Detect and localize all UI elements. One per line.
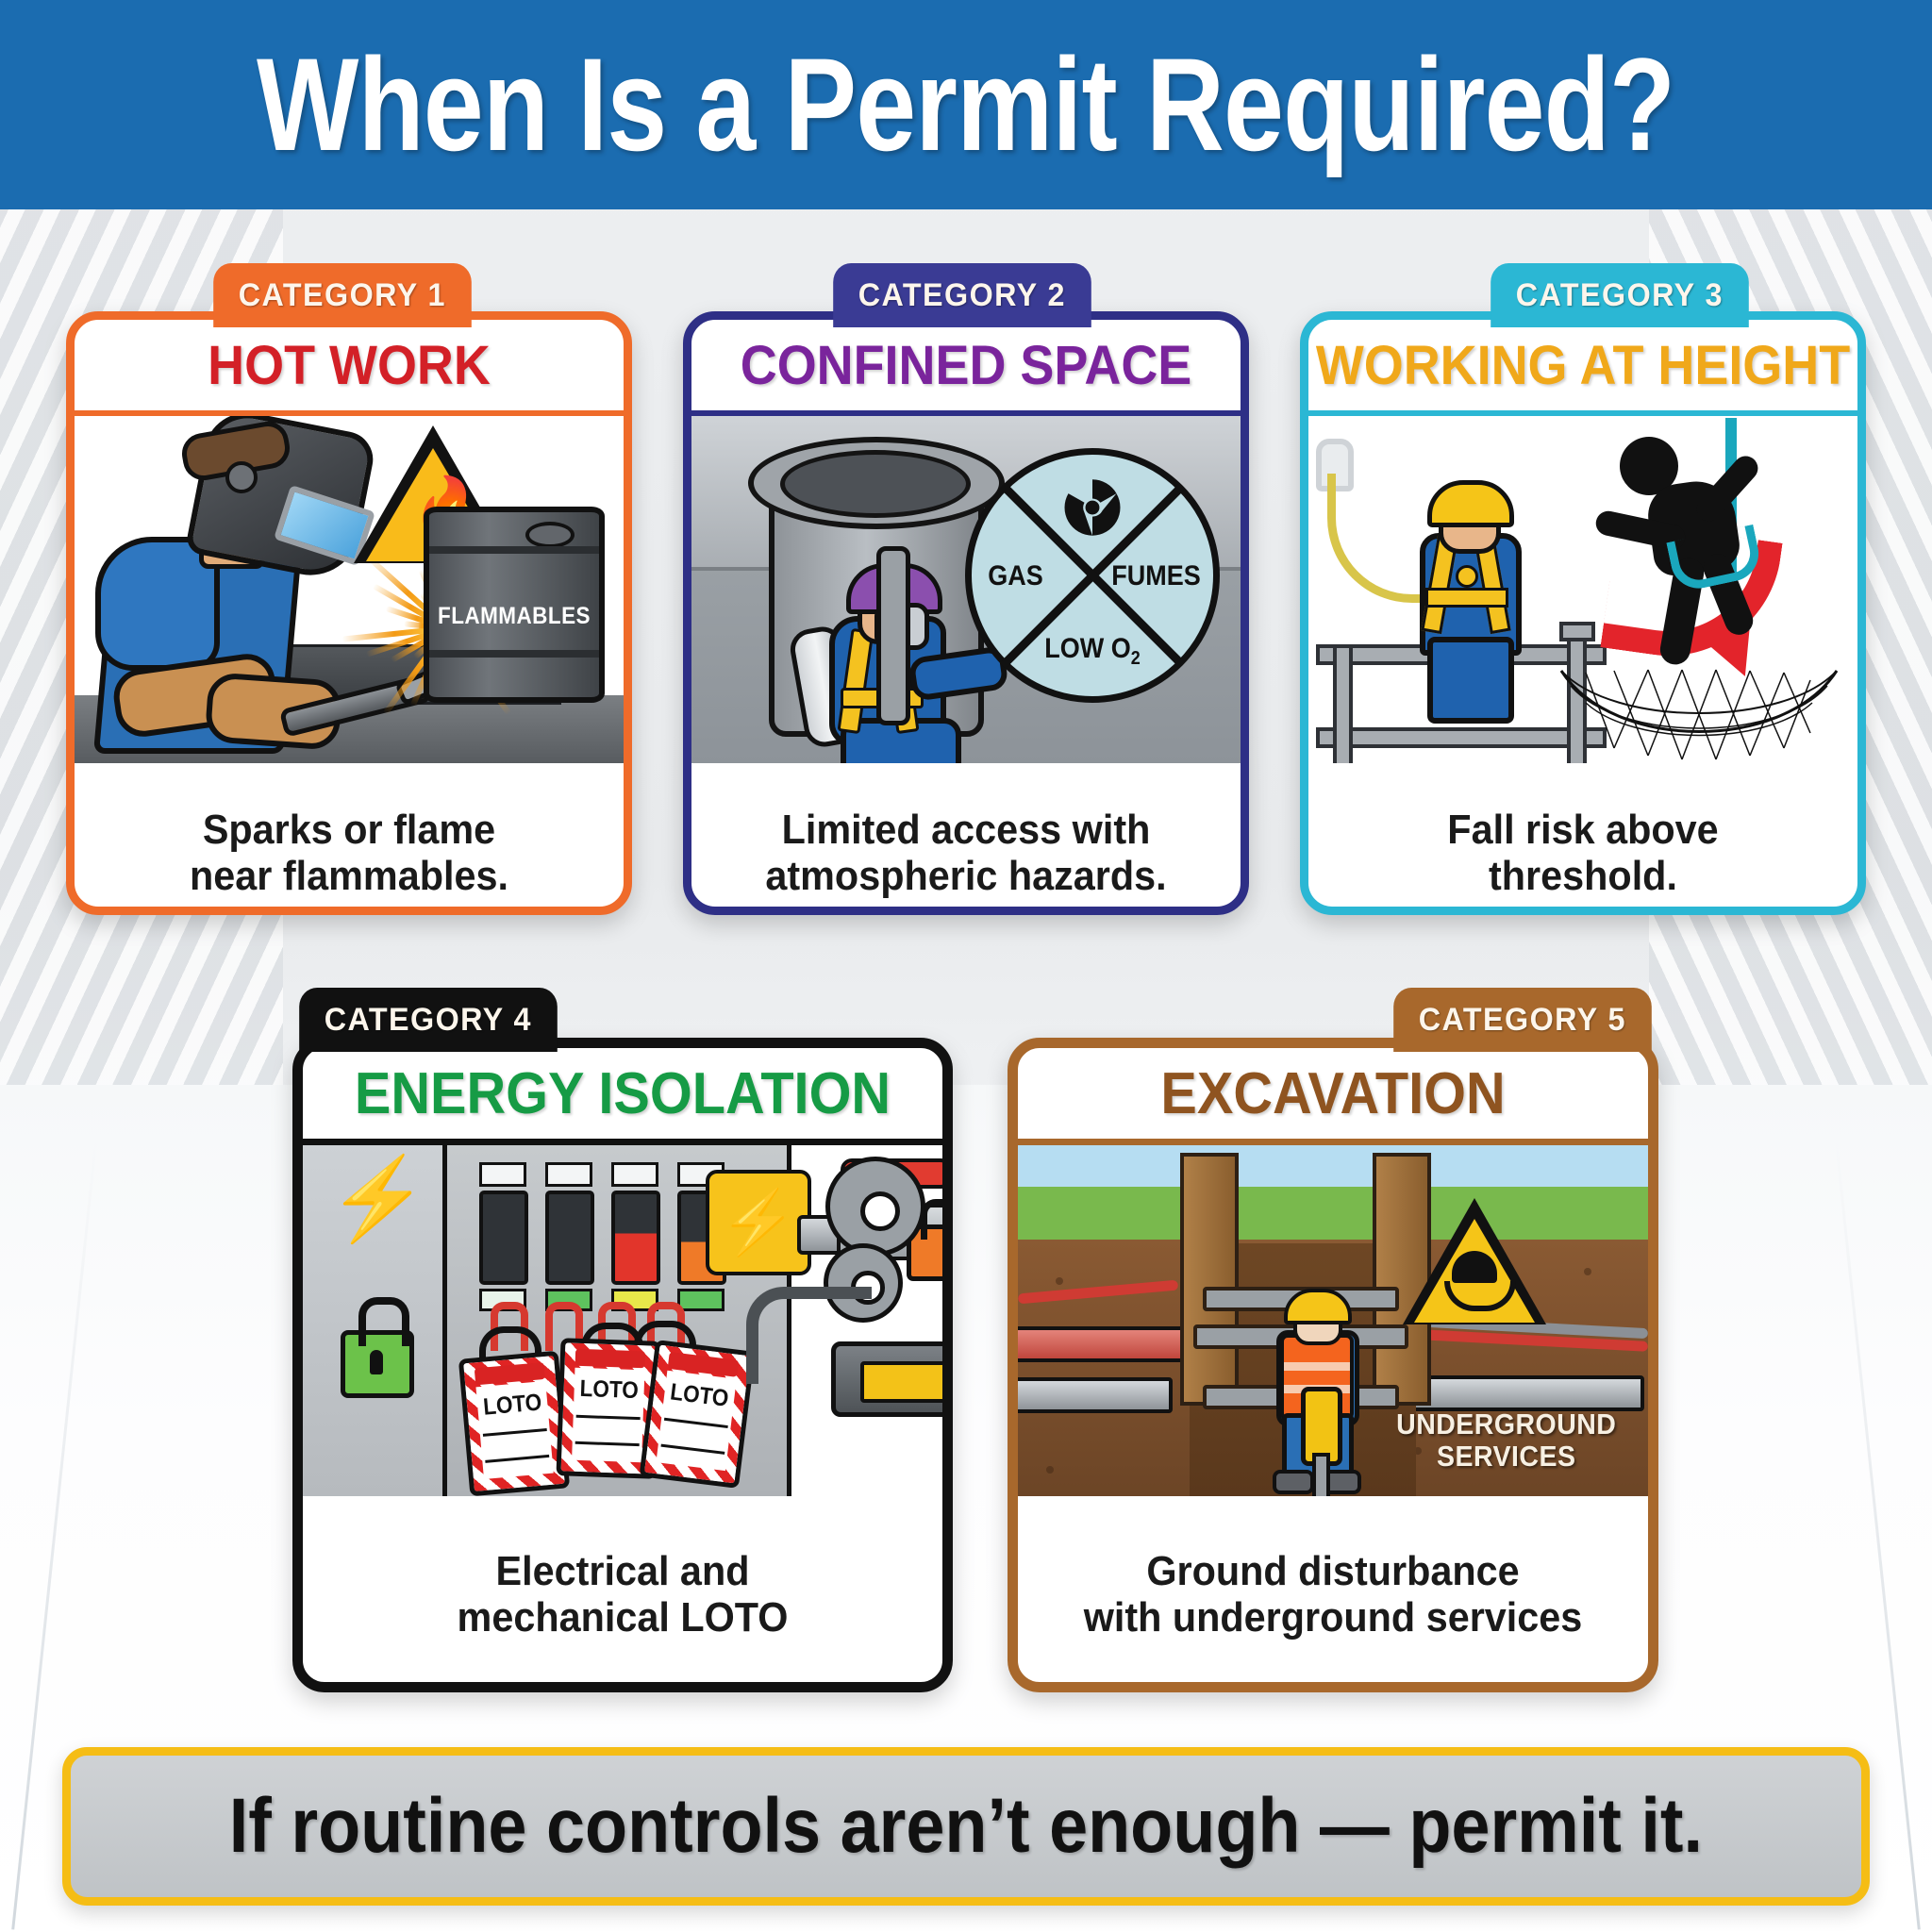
poster-header: When Is a Permit Required? <box>0 0 1932 209</box>
category-title-3: WORKING AT HEIGHT <box>1327 320 1838 410</box>
category-caption-3: Fall risk above threshold. <box>1324 763 1840 942</box>
barrel-cap <box>525 522 575 548</box>
helmet-knob <box>225 461 258 493</box>
category-card-energy-isolation[interactable]: CATEGORY 4 ENERGY ISOLATION ⚡ <box>292 1038 953 1692</box>
high-voltage-sign: ⚡ <box>706 1170 811 1275</box>
buried-pipe-grey <box>1018 1377 1173 1413</box>
jackhammer-bit <box>1312 1453 1330 1496</box>
underground-services-label: UNDERGROUND SERVICES <box>1396 1408 1616 1472</box>
gear-tooth <box>845 1176 914 1245</box>
electrical-panel-left: ⚡ <box>303 1145 447 1496</box>
dig-safety-warning-sign <box>1403 1198 1546 1326</box>
gear-tooth <box>845 1176 914 1245</box>
category-caption-2: Limited access with atmospheric hazards. <box>708 763 1224 942</box>
dial-label-fumes: FUMES <box>1111 560 1201 592</box>
circuit-breaker <box>545 1191 594 1285</box>
atmospheric-hazard-dial: GAS FUMES LOW O2 <box>965 448 1220 703</box>
radiation-hazard-icon <box>1060 475 1124 540</box>
caption-line-1: Limited access with <box>782 807 1151 853</box>
circuit-breaker <box>611 1191 660 1285</box>
loto-tag: LOTO <box>458 1351 570 1496</box>
caption-line-2: mechanical LOTO <box>458 1594 789 1641</box>
gear-icon <box>825 1157 925 1257</box>
category-title-1: HOT WORK <box>93 320 604 410</box>
caption-line-1: Electrical and <box>496 1548 750 1594</box>
category-caption-1: Sparks or flame near flammables. <box>91 763 607 942</box>
excavation-worker <box>1257 1296 1371 1491</box>
category-tab-4: CATEGORY 4 <box>299 988 557 1052</box>
falling-person-pictogram <box>1616 427 1786 663</box>
barrel-rib <box>429 650 599 658</box>
breaker-panel: ⚡ LOTO LOTO <box>447 1145 791 1496</box>
caption-line-1: Fall risk above <box>1447 807 1718 853</box>
category-caption-4: Electrical and mechanical LOTO <box>322 1496 923 1692</box>
illustration-confined-space: GAS FUMES LOW O2 <box>691 410 1241 763</box>
low-o2-text: LOW O <box>1044 633 1130 664</box>
sky-band <box>1018 1145 1648 1187</box>
high-voltage-bolt-icon: ⚡ <box>327 1158 428 1240</box>
breaker-label <box>479 1162 526 1187</box>
welder-figure <box>95 442 369 754</box>
caption-line-1: Sparks or flame <box>203 807 495 853</box>
caption-line-2: near flammables. <box>190 853 508 899</box>
category-card-confined-space[interactable]: CATEGORY 2 CONFINED SPACE <box>683 311 1249 915</box>
gear-tooth <box>844 1196 914 1224</box>
category-tab-1: CATEGORY 1 <box>213 263 471 327</box>
illustration-working-at-height <box>1308 410 1857 763</box>
gear-tooth <box>845 1176 914 1245</box>
lightning-bolt-icon: ⚡ <box>720 1186 797 1259</box>
dial-label-gas: GAS <box>988 560 1043 592</box>
circuit-breaker <box>479 1191 528 1285</box>
footer-banner: If routine controls aren’t enough — perm… <box>62 1747 1870 1906</box>
underground-line-1: UNDERGROUND <box>1396 1407 1616 1441</box>
category-caption-5: Ground disturbance with underground serv… <box>1037 1496 1629 1692</box>
hydraulic-pump-icon <box>831 1341 942 1417</box>
category-card-excavation[interactable]: CATEGORY 5 EXCAVATION <box>1008 1038 1658 1692</box>
pump-body-yellow <box>860 1361 942 1403</box>
loto-tag: LOTO <box>639 1340 755 1489</box>
hard-hat-icon <box>1427 480 1514 527</box>
category-tab-3: CATEGORY 3 <box>1491 263 1749 327</box>
category-title-2: CONFINED SPACE <box>710 320 1221 410</box>
low-o2-subscript: 2 <box>1131 648 1141 669</box>
safety-net-icon <box>1557 661 1840 763</box>
loto-tag-text: LOTO <box>568 1375 650 1406</box>
caption-line-2: threshold. <box>1489 853 1677 899</box>
gear-tooth <box>865 1175 892 1245</box>
category-tab-2: CATEGORY 2 <box>833 263 1091 327</box>
category-card-hot-work[interactable]: CATEGORY 1 HOT WORK <box>66 311 632 915</box>
green-padlock-icon <box>341 1330 414 1398</box>
breaker-label <box>545 1162 592 1187</box>
page-title: When Is a Permit Required? <box>257 39 1674 171</box>
barrel-rib <box>429 546 599 554</box>
caption-line-2: atmospheric hazards. <box>765 853 1166 899</box>
category-title-5: EXCAVATION <box>1040 1048 1625 1139</box>
caption-line-1: Ground disturbance <box>1146 1548 1519 1594</box>
breaker-label <box>611 1162 658 1187</box>
grass-band <box>1018 1187 1648 1243</box>
flammables-barrel: FLAMMABLES <box>424 507 605 703</box>
manhole-opening <box>780 450 971 518</box>
gear-tooth <box>865 1175 892 1245</box>
worker-boot <box>1273 1470 1314 1494</box>
trench-shoring-left <box>1180 1153 1239 1406</box>
poster-root: When Is a Permit Required? CATEGORY 1 HO… <box>0 0 1932 1932</box>
illustration-hot-work: 🔥 FLAMMABLES <box>75 410 624 763</box>
category-card-working-at-height[interactable]: CATEGORY 3 WORKING AT HEIGHT <box>1300 311 1866 915</box>
gear-tooth <box>845 1176 914 1245</box>
gear-tooth <box>844 1196 914 1224</box>
worker-legs <box>1427 637 1514 724</box>
worker-on-scaffold <box>1399 475 1531 710</box>
footer-message: If routine controls aren’t enough — perm… <box>229 1782 1703 1871</box>
access-ladder <box>876 546 910 725</box>
caption-line-2: with underground services <box>1084 1594 1583 1641</box>
category-title-4: ENERGY ISOLATION <box>325 1048 921 1139</box>
barrel-label: FLAMMABLES <box>438 603 591 630</box>
category-tab-5: CATEGORY 5 <box>1394 988 1652 1052</box>
dial-label-low-oxygen: LOW O2 <box>1044 633 1141 670</box>
illustration-energy-isolation: ⚡ ⚡ <box>303 1139 942 1496</box>
buried-pipe-red <box>1018 1326 1186 1362</box>
illustration-excavation: UNDERGROUND SERVICES <box>1018 1139 1648 1496</box>
underground-line-2: SERVICES <box>1437 1440 1575 1473</box>
breaker-indicator <box>677 1289 724 1311</box>
